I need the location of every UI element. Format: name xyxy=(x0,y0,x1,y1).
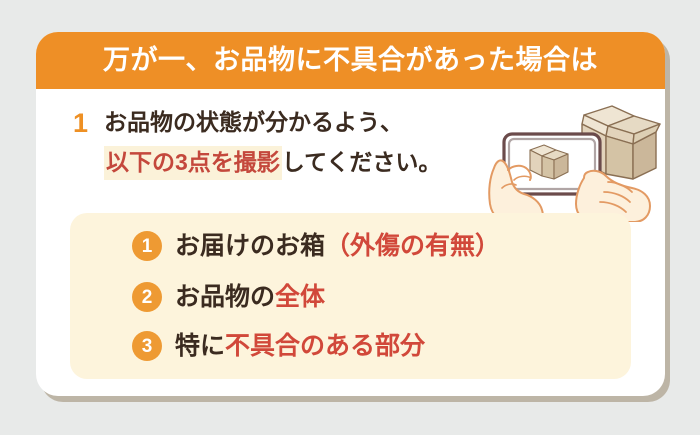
step-tail-text: してください。 xyxy=(282,149,442,175)
list-item-text: 特に不具合のある部分 xyxy=(175,334,425,359)
step-section: 1 お品物の状態が分かるよう、 以下の3点を撮影してください。 xyxy=(36,89,665,213)
list-item-text: お品物の全体 xyxy=(175,285,325,310)
list-item-accent-2: 不具合のある部分 xyxy=(225,332,425,360)
step-line-1: お品物の状態が分かるよう、 xyxy=(104,111,403,134)
list-item: 1 お届けのお箱（外傷の有無） xyxy=(132,229,500,263)
step-highlight-text: 以下の3点を撮影 xyxy=(104,146,282,180)
card-header: 万が一、お品物に不具合があった場合は xyxy=(36,32,665,89)
header-title: 万が一、お品物に不具合があった場合は xyxy=(103,47,598,74)
list-item-plain-1: お品物の xyxy=(175,283,275,311)
list-item: 3 特に不具合のある部分 xyxy=(132,329,425,363)
list-item-text: お届けのお箱（外傷の有無） xyxy=(175,234,500,259)
step-number: 1 xyxy=(73,110,88,137)
photo-checklist-panel: 1 お届けのお箱（外傷の有無） 2 お品物の全体 3 特に不具合のある部分 xyxy=(70,213,631,379)
list-item: 2 お品物の全体 xyxy=(132,280,325,314)
list-item-badge: 1 xyxy=(132,231,162,261)
list-item-badge: 3 xyxy=(132,331,162,361)
list-item-badge: 2 xyxy=(132,282,162,312)
step-line-2: 以下の3点を撮影してください。 xyxy=(104,151,441,174)
list-item-accent-0: （外傷の有無） xyxy=(325,232,500,260)
list-item-plain-0: お届けのお箱 xyxy=(175,232,325,260)
notice-card: 万が一、お品物に不具合があった場合は 1 お品物の状態が分かるよう、 以下の3点… xyxy=(36,32,665,396)
list-item-accent-1: 全体 xyxy=(275,283,325,311)
list-item-plain-2: 特に xyxy=(175,332,225,360)
